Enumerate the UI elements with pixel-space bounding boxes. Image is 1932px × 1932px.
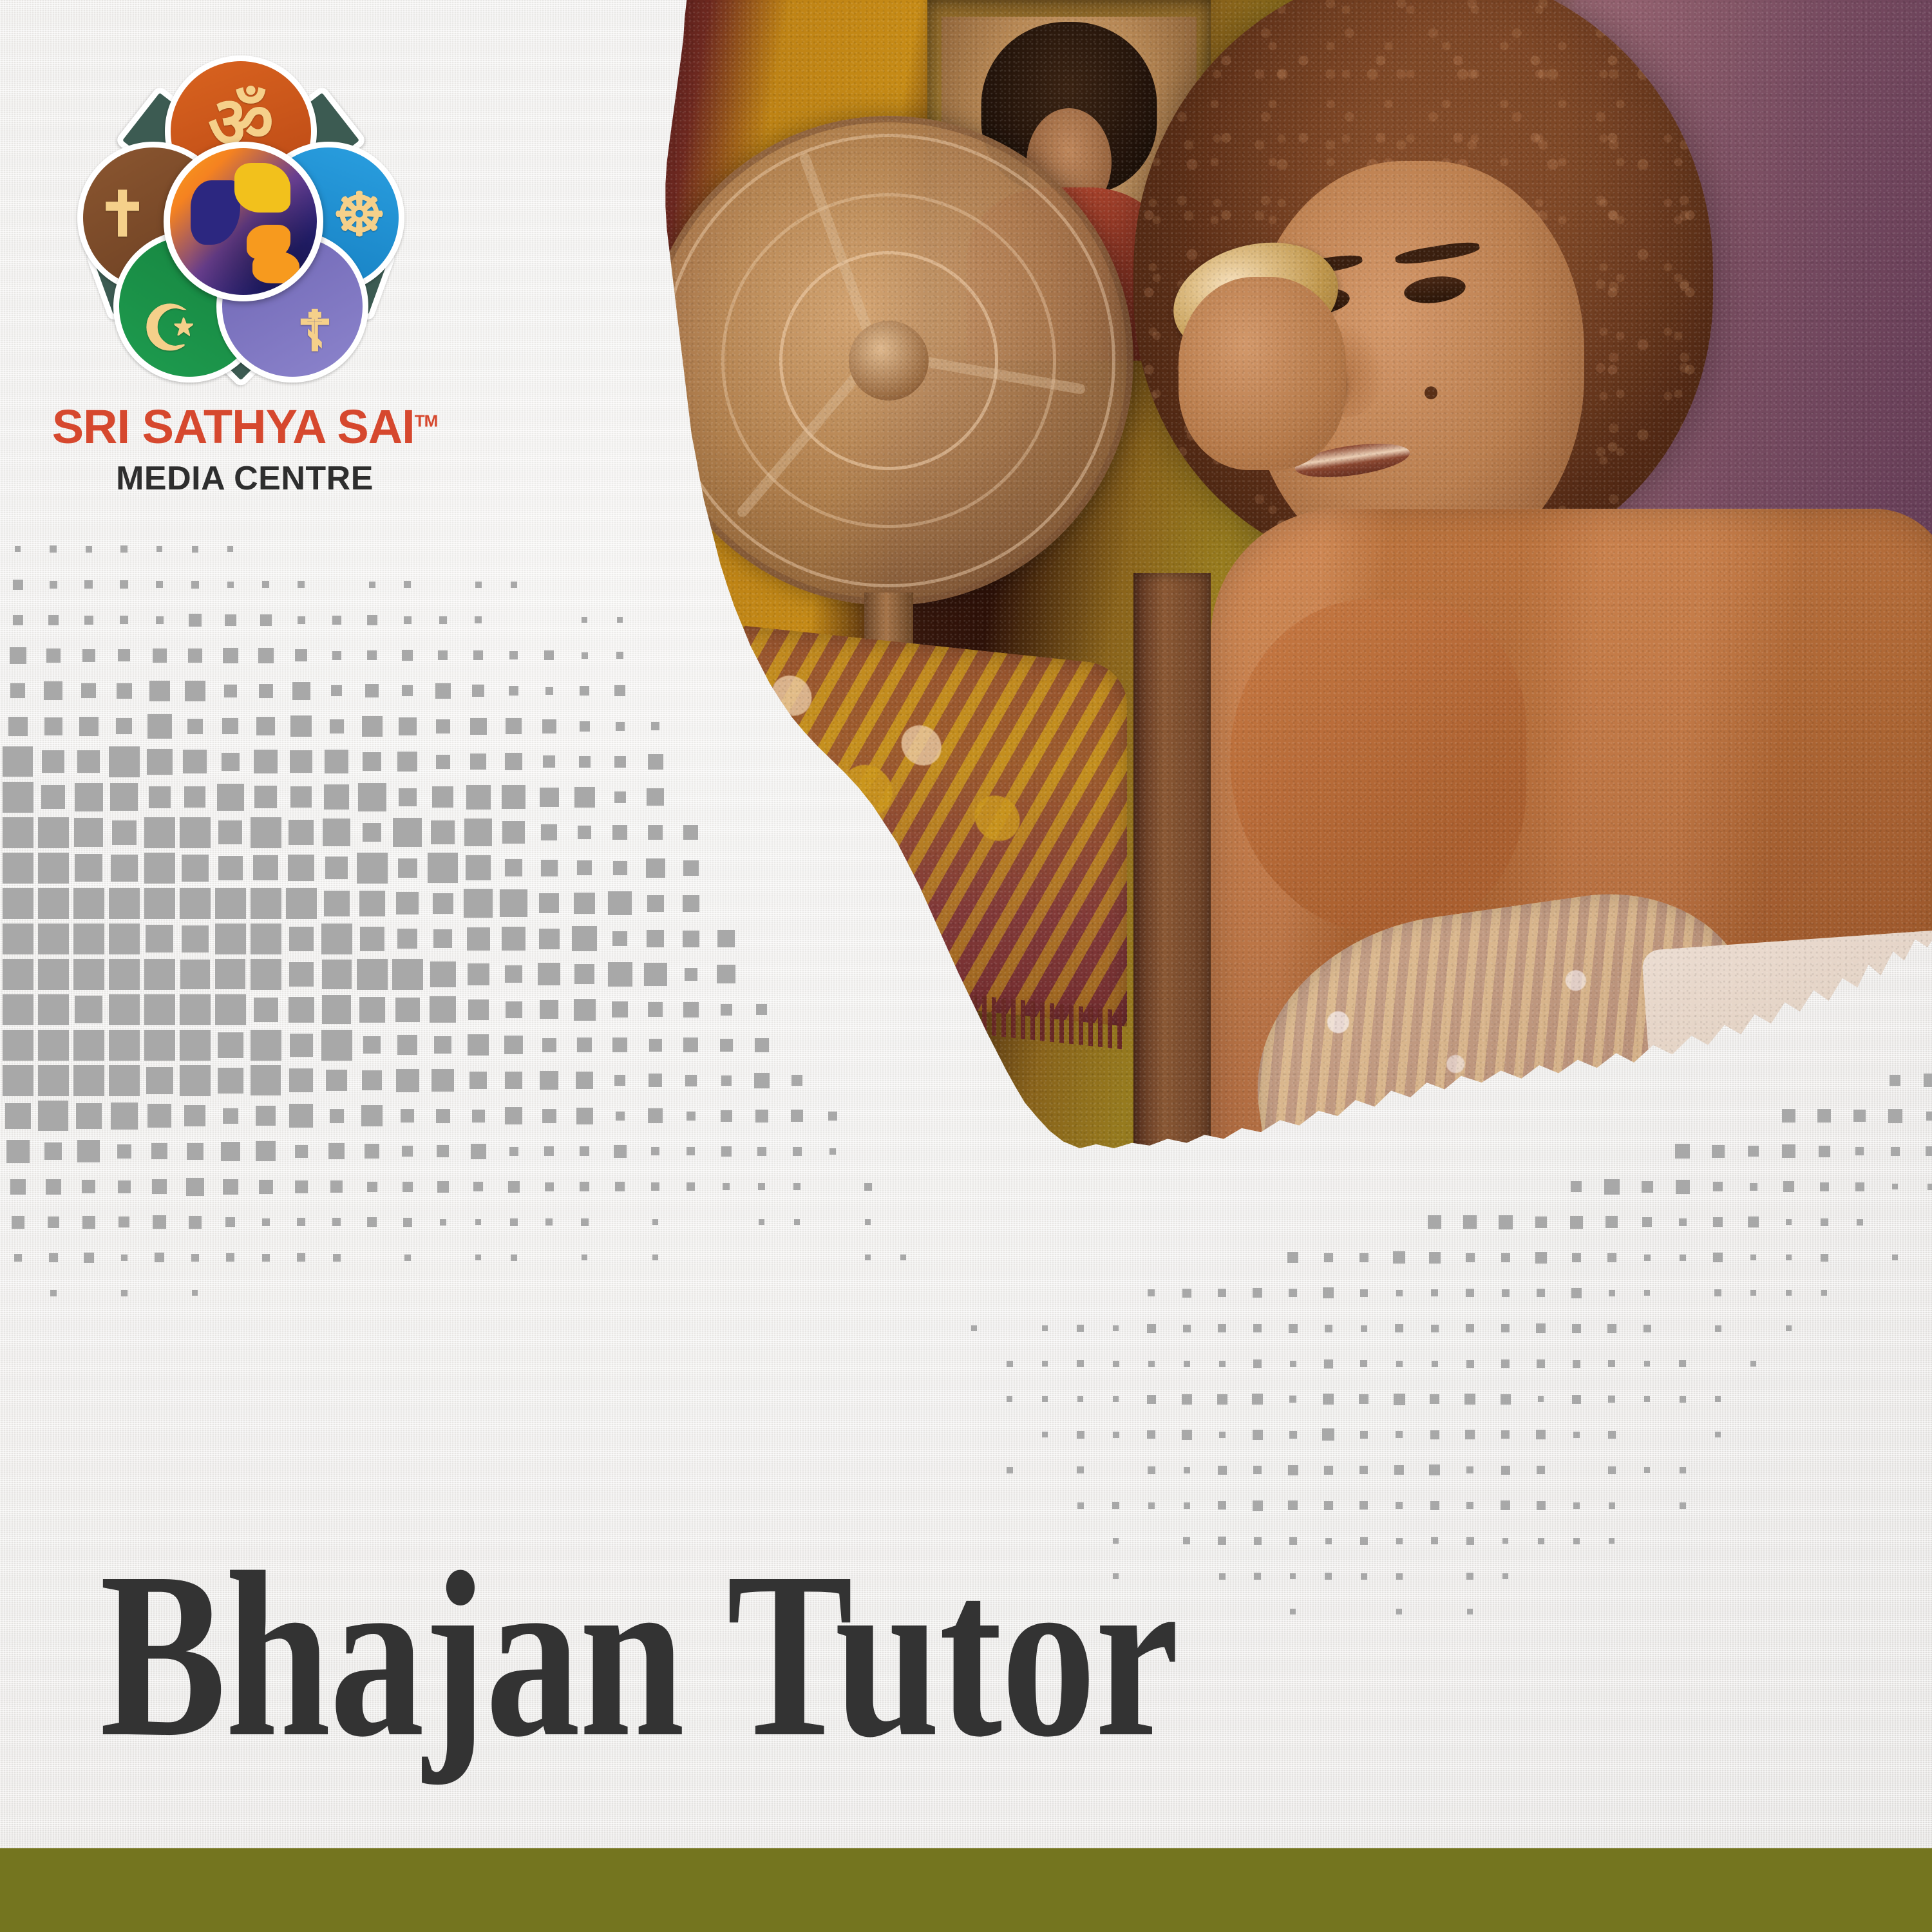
mosaic-square bbox=[365, 684, 379, 697]
mosaic-square bbox=[156, 581, 163, 588]
mosaic-square bbox=[121, 1290, 128, 1296]
mosaic-square bbox=[15, 546, 21, 552]
mosaic-square bbox=[12, 1216, 24, 1229]
mosaic-square bbox=[1609, 1538, 1615, 1544]
mosaic-square bbox=[262, 1218, 270, 1226]
mosaic-square bbox=[289, 1104, 313, 1128]
mosaic-square bbox=[73, 1030, 104, 1061]
mosaic-square bbox=[398, 858, 417, 878]
mosaic-square bbox=[111, 855, 138, 882]
mosaic-square bbox=[109, 959, 140, 990]
mosaic-square bbox=[254, 786, 277, 808]
mosaic-square bbox=[392, 959, 423, 990]
mosaic-square bbox=[544, 650, 554, 660]
mosaic-square bbox=[218, 1068, 243, 1094]
mosaic-square bbox=[1430, 1430, 1439, 1439]
mosaic-square bbox=[118, 1217, 129, 1227]
mosaic-square bbox=[475, 582, 482, 588]
mosaic-square bbox=[539, 893, 559, 913]
mosaic-square bbox=[1077, 1431, 1084, 1439]
mosaic-square bbox=[86, 546, 92, 553]
mosaic-square bbox=[1219, 1573, 1226, 1580]
mosaic-square bbox=[1501, 1430, 1510, 1439]
mosaic-square bbox=[403, 1218, 412, 1227]
mosaic-square bbox=[44, 681, 62, 700]
mosaic-square bbox=[472, 1110, 485, 1122]
mosaic-square bbox=[432, 786, 453, 808]
mosaic-square bbox=[1323, 1394, 1334, 1405]
mosaic-square bbox=[48, 615, 59, 625]
mosaic-square bbox=[1432, 1361, 1438, 1367]
star-and-crescent-icon: ☪ bbox=[142, 298, 197, 360]
mosaic-square bbox=[191, 1254, 199, 1262]
seated-figure bbox=[1018, 0, 1932, 1333]
mosaic-square bbox=[1431, 1537, 1438, 1544]
mosaic-square bbox=[1501, 1501, 1510, 1510]
mosaic-square bbox=[511, 1255, 517, 1261]
mosaic-square bbox=[192, 546, 198, 553]
mosaic-square bbox=[509, 686, 518, 696]
mosaic-square bbox=[295, 649, 307, 661]
mosaic-square bbox=[182, 855, 209, 882]
mosaic-square bbox=[146, 925, 173, 952]
mosaic-square bbox=[223, 648, 238, 663]
mosaic-square bbox=[1253, 1501, 1263, 1511]
mosaic-square bbox=[1466, 1537, 1474, 1545]
mosaic-square bbox=[144, 994, 175, 1025]
mosaic-square bbox=[1288, 1501, 1298, 1510]
mosaic-square bbox=[545, 1218, 553, 1226]
mosaic-square bbox=[152, 1179, 167, 1194]
mosaic-square bbox=[286, 888, 317, 919]
mosaic-square bbox=[1289, 1537, 1297, 1545]
mosaic-square bbox=[82, 1180, 95, 1193]
mosaic-square bbox=[1573, 1360, 1580, 1368]
brand-line-secondary: MEDIA CENTRE bbox=[52, 459, 438, 498]
mosaic-square bbox=[369, 582, 375, 588]
mosaic-square bbox=[295, 1180, 308, 1193]
mosaic-square bbox=[10, 647, 26, 664]
mosaic-square bbox=[256, 1106, 276, 1126]
mosaic-square bbox=[540, 788, 559, 807]
mosaic-square bbox=[435, 683, 451, 699]
mosaic-square bbox=[50, 1290, 57, 1296]
mosaic-square bbox=[3, 817, 33, 848]
mosaic-square bbox=[475, 1255, 481, 1260]
mosaic-square bbox=[1077, 1502, 1084, 1509]
mosaic-square bbox=[13, 580, 23, 590]
mosaic-square bbox=[1042, 1361, 1048, 1367]
mosaic-square bbox=[8, 717, 28, 736]
mosaic-square bbox=[540, 1000, 558, 1019]
mosaic-square bbox=[326, 1070, 347, 1091]
mosaic-square bbox=[431, 820, 455, 844]
mosaic-square bbox=[44, 1142, 62, 1160]
mosaic-square bbox=[359, 997, 385, 1023]
mosaic-square bbox=[396, 892, 419, 914]
mosaic-square bbox=[292, 682, 310, 700]
mosaic-square bbox=[46, 649, 61, 663]
mosaic-square bbox=[121, 1255, 128, 1261]
mosaic-square bbox=[182, 925, 209, 952]
mosaic-square bbox=[402, 650, 413, 661]
page-title: Bhajan Tutor bbox=[100, 1536, 1178, 1773]
mosaic-square bbox=[185, 681, 205, 701]
mosaic-square bbox=[1644, 1396, 1650, 1402]
mosaic-square bbox=[110, 783, 138, 811]
mosaic-square bbox=[1466, 1466, 1473, 1473]
mosaic-square bbox=[1183, 1537, 1190, 1544]
mosaic-square bbox=[399, 717, 417, 735]
mosaic-square bbox=[73, 1065, 104, 1096]
mosaic-square bbox=[1573, 1502, 1580, 1509]
mosaic-square bbox=[217, 784, 244, 811]
mosaic-square bbox=[254, 750, 278, 773]
mosaic-square bbox=[363, 1036, 381, 1054]
mosaic-square bbox=[1715, 1432, 1721, 1437]
sri-sathya-sai-media-centre-logo[interactable]: ॐ ✝ ☸ ☪ ☦ SRI SATHYA SAITM bbox=[52, 52, 438, 502]
cross-icon: ✝ bbox=[97, 184, 148, 246]
mosaic-square bbox=[433, 929, 452, 948]
mosaic-square bbox=[81, 683, 96, 698]
mosaic-square bbox=[260, 614, 272, 626]
white-bolster-cushion bbox=[1642, 930, 1932, 1169]
mosaic-square bbox=[504, 1036, 523, 1054]
mosaic-square bbox=[112, 820, 137, 845]
mosaic-square bbox=[472, 685, 484, 697]
mosaic-square bbox=[434, 1036, 451, 1054]
mosaic-square bbox=[464, 819, 492, 846]
mosaic-square bbox=[438, 650, 448, 660]
mosaic-square bbox=[1430, 1501, 1439, 1510]
mosaic-square bbox=[1182, 1394, 1192, 1405]
mosaic-square bbox=[10, 1179, 26, 1195]
mosaic-square bbox=[221, 1142, 240, 1161]
mosaic-square bbox=[330, 1180, 343, 1193]
mosaic-square bbox=[1218, 1501, 1226, 1510]
mosaic-square bbox=[404, 581, 411, 588]
mosaic-square bbox=[76, 1103, 102, 1129]
mosaic-square bbox=[1007, 1396, 1012, 1402]
mosaic-square bbox=[437, 1181, 449, 1193]
mosaic-square bbox=[5, 1103, 31, 1129]
mosaic-square bbox=[475, 1219, 481, 1225]
mosaic-square bbox=[367, 650, 377, 660]
mosaic-square bbox=[509, 1147, 518, 1156]
mosaic-square bbox=[360, 927, 384, 951]
brand-line-primary-text: SRI SATHYA SAI bbox=[52, 400, 415, 453]
mosaic-square bbox=[224, 685, 237, 697]
mosaic-square bbox=[118, 649, 130, 661]
mosaic-square bbox=[470, 718, 487, 735]
mosaic-square bbox=[289, 997, 314, 1023]
mosaic-square bbox=[84, 1253, 94, 1263]
mosaic-square bbox=[84, 580, 93, 589]
mosaic-square bbox=[14, 1254, 22, 1262]
mosaic-square bbox=[222, 753, 240, 771]
mosaic-square bbox=[322, 995, 351, 1024]
mosaic-square bbox=[259, 684, 273, 698]
mosaic-square bbox=[436, 755, 450, 769]
mosaic-square bbox=[1254, 1573, 1261, 1580]
mosaic-square bbox=[1148, 1502, 1155, 1509]
mosaic-square bbox=[359, 891, 385, 916]
mosaic-square bbox=[1501, 1466, 1510, 1475]
mosaic-square bbox=[290, 1034, 313, 1057]
mosaic-square bbox=[3, 1065, 33, 1096]
mosaic-square bbox=[3, 959, 33, 990]
mosaic-square bbox=[1077, 1466, 1084, 1473]
mosaic-square bbox=[332, 616, 341, 625]
mosaic-square bbox=[192, 1290, 198, 1296]
sathya-sai-baba-playing-cymbals-photo bbox=[567, 0, 1932, 1333]
mosaic-square bbox=[49, 1253, 58, 1262]
mosaic-square bbox=[256, 1141, 276, 1161]
mosaic-square bbox=[144, 1030, 175, 1061]
mosaic-square bbox=[538, 963, 560, 985]
mosaic-square bbox=[1608, 1466, 1616, 1474]
mosaic-square bbox=[466, 855, 491, 880]
mosaic-square bbox=[1467, 1609, 1473, 1615]
zoroastrian-fire-icon: ☦ bbox=[297, 304, 333, 359]
mosaic-square bbox=[1396, 1502, 1403, 1509]
mosaic-square bbox=[505, 753, 522, 770]
mosaic-square bbox=[155, 1253, 164, 1262]
trademark-symbol: TM bbox=[415, 411, 438, 430]
mosaic-square bbox=[256, 717, 275, 735]
mosaic-square bbox=[1359, 1501, 1368, 1510]
mosaic-square bbox=[433, 893, 453, 914]
mosaic-square bbox=[402, 685, 413, 696]
mosaic-square bbox=[180, 994, 211, 1025]
mosaic-square bbox=[1608, 1360, 1615, 1367]
mosaic-square bbox=[38, 1030, 69, 1061]
mosaic-square bbox=[79, 717, 99, 736]
mosaic-square bbox=[365, 1144, 379, 1159]
interfaith-lotus-emblem: ॐ ✝ ☸ ☪ ☦ bbox=[73, 52, 408, 386]
mosaic-square bbox=[290, 786, 312, 808]
mosaic-square bbox=[84, 616, 93, 625]
mosaic-square bbox=[439, 616, 447, 624]
mosaic-square bbox=[77, 1140, 100, 1162]
mosaic-square bbox=[82, 649, 95, 662]
mosaic-square bbox=[1394, 1465, 1404, 1475]
mosaic-square bbox=[118, 1180, 131, 1193]
mosaic-square bbox=[144, 888, 175, 919]
mosaic-square bbox=[1290, 1361, 1296, 1367]
mosaic-square bbox=[545, 1182, 554, 1191]
mosaic-square bbox=[1359, 1394, 1368, 1404]
mosaic-square bbox=[475, 616, 482, 623]
mosaic-square bbox=[3, 994, 33, 1025]
mosaic-square bbox=[297, 1218, 305, 1226]
mosaic-square bbox=[1394, 1394, 1405, 1405]
mosaic-square bbox=[1184, 1361, 1190, 1367]
bottom-accent-bar bbox=[0, 1848, 1932, 1932]
mosaic-square bbox=[1396, 1609, 1402, 1615]
mosaic-square bbox=[75, 996, 102, 1023]
mosaic-square bbox=[180, 1065, 211, 1096]
mosaic-square bbox=[505, 1107, 522, 1124]
mosaic-square bbox=[218, 1032, 243, 1058]
mosaic-square bbox=[147, 1104, 171, 1128]
mosaic-square bbox=[3, 782, 33, 813]
mosaic-square bbox=[1464, 1394, 1475, 1405]
mosaic-square bbox=[1680, 1502, 1686, 1509]
mosaic-square bbox=[1290, 1609, 1296, 1615]
mosaic-square bbox=[120, 616, 128, 624]
mosaic-square bbox=[3, 888, 33, 919]
mosaic-square bbox=[187, 719, 203, 734]
mosaic-square bbox=[38, 1101, 68, 1131]
mosaic-square bbox=[38, 853, 69, 884]
mosaic-square bbox=[401, 1109, 414, 1122]
mosaic-square bbox=[541, 860, 558, 876]
mosaic-square bbox=[502, 785, 526, 809]
mosaic-square bbox=[1502, 1538, 1508, 1544]
mosaic-square bbox=[1396, 1431, 1403, 1438]
mosaic-square bbox=[1253, 1430, 1263, 1440]
mosaic-square bbox=[109, 746, 140, 777]
mosaic-square bbox=[50, 581, 57, 589]
mosaic-square bbox=[468, 1034, 489, 1056]
mosaic-square bbox=[505, 965, 522, 983]
mosaic-square bbox=[325, 857, 348, 879]
mosaic-square bbox=[149, 681, 170, 701]
mosaic-square bbox=[153, 649, 167, 663]
mosaic-square bbox=[505, 859, 522, 876]
mosaic-square bbox=[75, 854, 102, 882]
mosaic-square bbox=[180, 1030, 211, 1061]
mosaic-square bbox=[188, 649, 202, 663]
mosaic-square bbox=[184, 1105, 205, 1126]
mosaic-square bbox=[1254, 1537, 1262, 1545]
mosaic-square bbox=[1715, 1396, 1721, 1402]
mosaic-square bbox=[77, 750, 100, 773]
mosaic-square bbox=[1360, 1537, 1368, 1545]
mosaic-square bbox=[42, 750, 64, 773]
dharma-wheel-icon: ☸ bbox=[333, 185, 386, 245]
mosaic-square bbox=[50, 545, 57, 553]
mosaic-square bbox=[156, 546, 162, 552]
mosaic-square bbox=[13, 615, 23, 625]
mosaic-square bbox=[1147, 1430, 1155, 1439]
mosaic-square bbox=[225, 614, 236, 626]
mosaic-square bbox=[540, 1071, 558, 1090]
mosaic-square bbox=[397, 1035, 417, 1055]
mosaic-square bbox=[440, 1219, 446, 1226]
mosaic-square bbox=[431, 1069, 454, 1092]
mosaic-square bbox=[1608, 1396, 1615, 1403]
mosaic-square bbox=[144, 959, 175, 990]
mosaic-square bbox=[1609, 1502, 1615, 1509]
mosaic-square bbox=[473, 650, 483, 660]
mosaic-square bbox=[466, 785, 491, 810]
mosaic-square bbox=[1289, 1396, 1296, 1403]
mosaic-square bbox=[397, 752, 417, 772]
mosaic-square bbox=[1218, 1466, 1227, 1475]
mosaic-square bbox=[38, 994, 69, 1025]
mosaic-square bbox=[332, 651, 341, 660]
mosaic-square bbox=[1429, 1464, 1440, 1475]
mosaic-square bbox=[321, 923, 352, 954]
mosaic-square bbox=[1537, 1359, 1545, 1368]
mosaic-square bbox=[332, 1218, 341, 1226]
mosaic-square bbox=[144, 853, 175, 884]
mosaic-square bbox=[322, 960, 352, 989]
mosaic-square bbox=[1324, 1359, 1333, 1368]
mosaic-square bbox=[1361, 1573, 1367, 1580]
mosaic-square bbox=[295, 1145, 308, 1158]
mosaic-square bbox=[186, 1178, 204, 1196]
mosaic-square bbox=[1360, 1360, 1367, 1367]
mosaic-square bbox=[367, 1217, 377, 1227]
mosaic-square bbox=[298, 616, 305, 624]
mosaic-square bbox=[1042, 1432, 1048, 1437]
mosaic-square bbox=[38, 923, 69, 954]
mosaic-square bbox=[404, 616, 412, 624]
mosaic-square bbox=[120, 545, 128, 553]
mosaic-square bbox=[147, 749, 173, 775]
mosaic-square bbox=[251, 817, 281, 848]
mosaic-square bbox=[117, 683, 132, 699]
mosaic-square bbox=[1679, 1360, 1686, 1367]
mosaic-square bbox=[437, 1145, 449, 1157]
mosaic-square bbox=[1113, 1396, 1119, 1402]
mosaic-square bbox=[1290, 1573, 1296, 1579]
mosaic-square bbox=[251, 1030, 281, 1061]
mosaic-square bbox=[402, 1146, 413, 1157]
mosaic-square bbox=[151, 1143, 167, 1159]
mosaic-square bbox=[289, 1068, 313, 1092]
mosaic-square bbox=[1538, 1396, 1544, 1402]
mosaic-square bbox=[1359, 1466, 1368, 1474]
mosaic-square bbox=[393, 818, 422, 847]
mosaic-square bbox=[75, 783, 103, 811]
mosaic-square bbox=[218, 820, 242, 844]
mosaic-square bbox=[1148, 1466, 1155, 1474]
mosaic-square bbox=[111, 1103, 138, 1130]
mosaic-square bbox=[1573, 1538, 1580, 1544]
mosaic-square bbox=[253, 855, 278, 880]
mosaic-square bbox=[116, 718, 132, 734]
mosaic-square bbox=[73, 888, 104, 919]
mosaic-square bbox=[361, 1105, 383, 1126]
mosaic-square bbox=[189, 614, 202, 627]
mosaic-square bbox=[38, 1065, 69, 1096]
mosaic-square bbox=[1042, 1396, 1048, 1402]
mosaic-square bbox=[544, 1146, 554, 1156]
mosaic-square bbox=[290, 715, 312, 737]
mosaic-square bbox=[1572, 1395, 1581, 1404]
mosaic-square bbox=[184, 786, 205, 808]
mosaic-square bbox=[74, 818, 103, 847]
mosaic-square bbox=[189, 1216, 202, 1229]
mosaic-square bbox=[1466, 1502, 1473, 1509]
mosaic-square bbox=[473, 1182, 483, 1191]
mosaic-square bbox=[1396, 1361, 1403, 1367]
mosaic-square bbox=[259, 1180, 273, 1194]
mosaic-square bbox=[3, 853, 33, 884]
globe-icon bbox=[164, 142, 323, 301]
mosaic-square bbox=[215, 994, 246, 1025]
mosaic-square bbox=[542, 1109, 556, 1123]
mosaic-square bbox=[502, 927, 526, 951]
mosaic-square bbox=[251, 959, 281, 990]
mosaic-square bbox=[333, 1254, 341, 1262]
mosaic-square bbox=[541, 824, 557, 840]
mosaic-square bbox=[1680, 1467, 1686, 1473]
